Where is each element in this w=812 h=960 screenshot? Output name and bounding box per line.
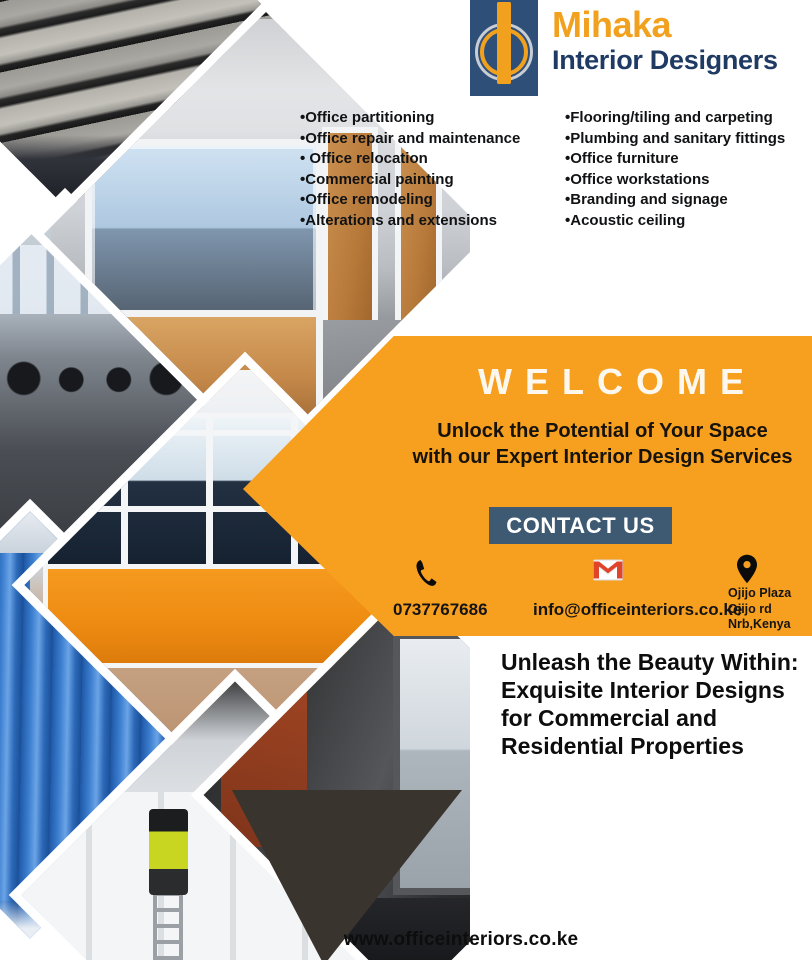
service-item: •Plumbing and sanitary fittings — [565, 129, 812, 150]
service-item: •Office repair and maintenance — [300, 129, 565, 150]
headline-line-2: Exquisite Interior Designs — [501, 676, 806, 704]
brand-tagline: Interior Designers — [552, 46, 778, 76]
service-item: •Acoustic ceiling — [565, 211, 812, 232]
service-item: •Office furniture — [565, 149, 812, 170]
service-item: •Commercial painting — [300, 170, 565, 191]
headline-line-1: Unleash the Beauty Within: — [501, 648, 806, 676]
logo-bar-front-shape — [497, 2, 511, 84]
brand-logo: Mihaka Interior Designers — [470, 0, 812, 96]
service-item: •Office remodeling — [300, 190, 565, 211]
map-pin-icon — [736, 554, 758, 589]
brand-name: Mihaka — [552, 6, 778, 44]
headline-text: Unleash the Beauty Within: Exquisite Int… — [501, 648, 806, 760]
service-item: • Office relocation — [300, 149, 565, 170]
contact-us-button-label: CONTACT US — [506, 513, 655, 539]
contact-us-button[interactable]: CONTACT US — [489, 507, 672, 544]
circle-and-bar-logo-icon — [470, 0, 538, 96]
service-item: •Alterations and extensions — [300, 211, 565, 232]
contact-email[interactable]: info@officeinteriors.co.ke — [533, 558, 623, 587]
services-right-column: •Flooring/tiling and carpeting •Plumbing… — [565, 108, 812, 240]
flyer-page: Mihaka Interior Designers •Office partit… — [0, 0, 812, 960]
website-url[interactable]: www.officeinteriors.co.ke — [0, 929, 812, 951]
service-item: •Office partitioning — [300, 108, 565, 129]
email-address: info@officeinteriors.co.ke — [533, 600, 742, 620]
brand-wordmark: Mihaka Interior Designers — [538, 0, 778, 75]
services-left-column: •Office partitioning •Office repair and … — [300, 108, 565, 240]
address-line-3: Nrb,Kenya — [728, 617, 791, 633]
welcome-subtitle-line1: Unlock the Potential of Your Space — [393, 418, 812, 444]
headline-line-3: for Commercial and — [501, 704, 806, 732]
service-item: •Flooring/tiling and carpeting — [565, 108, 812, 129]
service-item: •Office workstations — [565, 170, 812, 191]
phone-number: 0737767686 — [393, 600, 488, 620]
service-item: •Branding and signage — [565, 190, 812, 211]
headline-line-4: Residential Properties — [501, 732, 806, 760]
contact-phone[interactable]: 0737767686 — [393, 558, 439, 593]
services-lists: •Office partitioning •Office repair and … — [300, 108, 812, 240]
contact-address[interactable]: Ojijo Plaza Ojijo rd Nrb,Kenya — [728, 554, 758, 589]
phone-icon — [413, 558, 439, 593]
welcome-subtitle-line2: with our Expert Interior Design Services — [393, 444, 812, 470]
welcome-subtitle: Unlock the Potential of Your Space with … — [243, 418, 812, 470]
address-line-1: Ojijo Plaza — [728, 586, 791, 602]
address-lines: Ojijo Plaza Ojijo rd Nrb,Kenya — [728, 586, 791, 633]
contact-details-row: 0737767686 info@officeinteriors.co.ke — [383, 558, 803, 630]
gmail-envelope-icon — [593, 558, 623, 587]
address-line-2: Ojijo rd — [728, 602, 791, 618]
